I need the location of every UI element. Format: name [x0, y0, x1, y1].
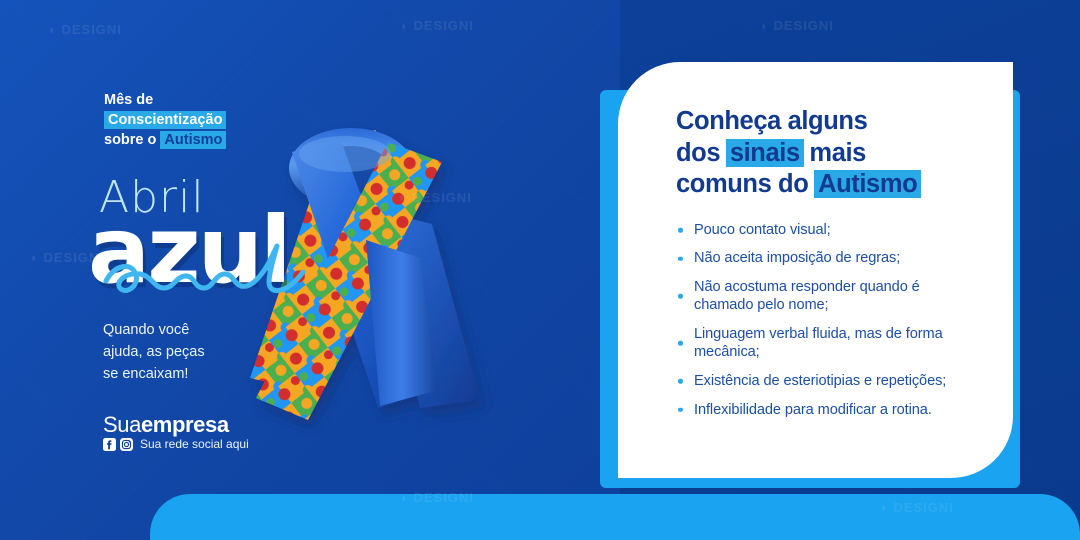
facebook-icon[interactable] [103, 438, 116, 451]
brand-name: Suaempresa [103, 412, 229, 438]
tagline-text: Quando você ajuda, as peças se encaixam! [103, 320, 283, 385]
brand-name-part1: Sua [103, 412, 141, 437]
card-title-line-1: Conheça alguns [676, 106, 979, 138]
list-item-text: Inflexibilidade para modificar a rotina. [694, 402, 932, 418]
headline-azul-wrap: azul [88, 205, 438, 310]
card-title: Conheça alguns dos sinais mais comuns do… [676, 106, 979, 201]
list-item: Inflexibilidade para modificar a rotina. [676, 401, 979, 420]
bullet-dot-icon [678, 228, 683, 233]
badge-line-3: sobre o Autismo [104, 130, 364, 150]
badge-line-1: Mês de [104, 90, 364, 110]
list-item-text: Existência de esteriotipias e repetições… [694, 373, 946, 389]
badge-text-autismo: Autismo [160, 131, 226, 149]
bullet-dot-icon [678, 294, 683, 299]
bullet-dot-icon [678, 256, 683, 261]
list-item: Não aceita imposição de regras; [676, 249, 979, 268]
poster-canvas: Mês de Conscientização sobre o Autismo A… [0, 0, 1080, 540]
signs-info-card: Conheça alguns dos sinais mais comuns do… [618, 62, 1013, 478]
tagline-line-1: Quando você [103, 320, 283, 342]
bullet-dot-icon [678, 341, 683, 346]
list-item-text: Não acostuma responder quando é chamado … [694, 279, 920, 314]
social-handle-row: Sua rede social aqui [103, 437, 249, 451]
list-item: Pouco contato visual; [676, 221, 979, 240]
headline-azul: azul [88, 205, 438, 297]
badge-line-2: Conscientização [104, 110, 364, 130]
card-title-line-2: dos sinais mais [676, 138, 979, 170]
list-item-text: Não aceita imposição de regras; [694, 250, 900, 266]
list-item-text: Linguagem verbal fluida, mas de forma me… [694, 326, 943, 361]
list-item: Existência de esteriotipias e repetições… [676, 372, 979, 391]
brand-name-part2: empresa [141, 412, 229, 437]
card-title-highlight-autismo: Autismo [814, 170, 921, 198]
instagram-icon[interactable] [120, 438, 133, 451]
tagline-line-2: ajuda, as peças [103, 342, 283, 364]
card-title-line3-pre: comuns do [676, 170, 815, 198]
badge-text-mes-de: Mês de [104, 92, 153, 108]
card-title-highlight-sinais: sinais [726, 139, 804, 167]
badge-text-conscientizacao: Conscientização [104, 111, 226, 129]
list-item: Linguagem verbal fluida, mas de forma me… [676, 325, 979, 362]
awareness-month-badge: Mês de Conscientização sobre o Autismo [104, 90, 364, 150]
social-handle-text: Sua rede social aqui [140, 437, 249, 451]
bullet-dot-icon [678, 379, 683, 384]
signs-list: Pouco contato visual; Não aceita imposiç… [676, 221, 979, 419]
card-title-line2-pre: dos [676, 139, 727, 167]
tagline-line-3: se encaixam! [103, 364, 283, 386]
list-item-text: Pouco contato visual; [694, 222, 831, 238]
card-title-line-3: comuns do Autismo [676, 169, 979, 201]
list-item: Não acostuma responder quando é chamado … [676, 278, 979, 315]
bottom-accent-bar [150, 494, 1080, 540]
badge-text-sobre-o: sobre o [104, 132, 160, 148]
card-title-line2-post: mais [803, 139, 866, 167]
bullet-dot-icon [678, 408, 683, 413]
